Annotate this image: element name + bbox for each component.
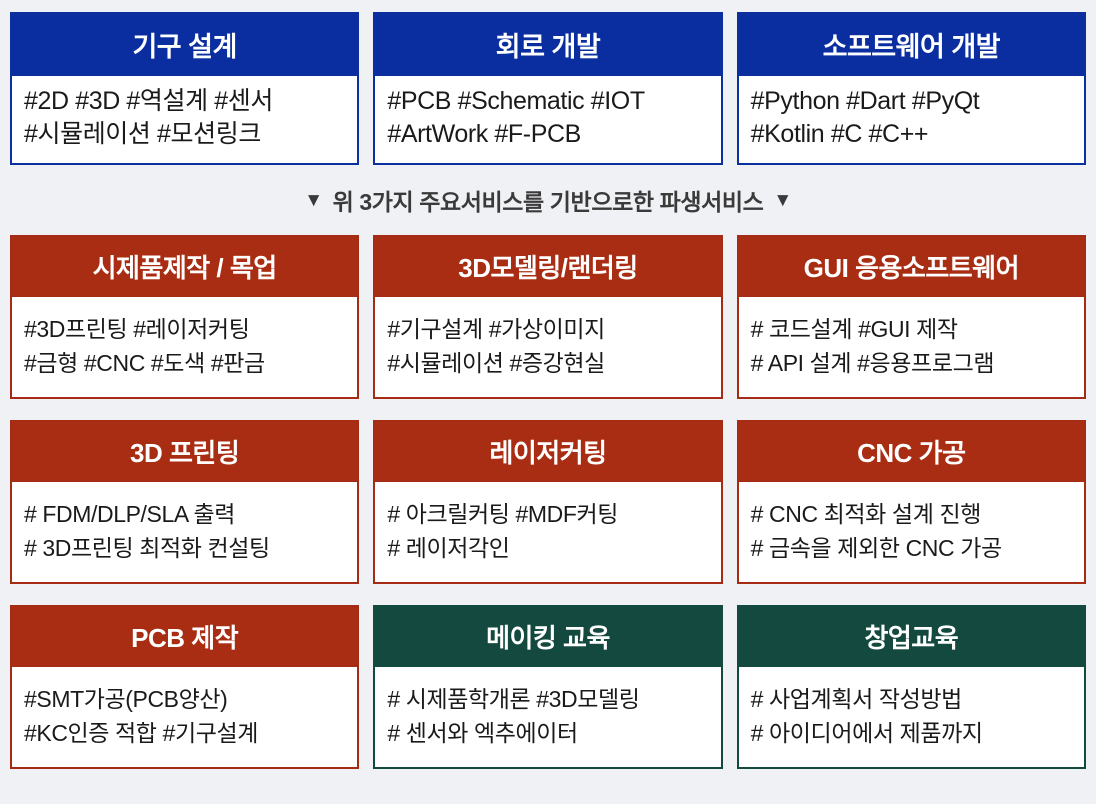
- card-tag-line: #ArtWork #F-PCB: [387, 118, 708, 151]
- service-card-circuit-development[interactable]: 회로 개발 #PCB #Schematic #IOT #ArtWork #F-P…: [373, 12, 722, 165]
- card-tag-line: # 레이저각인: [387, 531, 708, 565]
- service-card-prototype-mockup[interactable]: 시제품제작 / 목업 #3D프린팅 #레이저커팅 #금형 #CNC #도색 #판…: [10, 235, 359, 399]
- card-tag-line: # 코드설계 #GUI 제작: [751, 312, 1072, 346]
- card-tag-line: # FDM/DLP/SLA 출력: [24, 497, 345, 531]
- service-card-cnc-machining[interactable]: CNC 가공 # CNC 최적화 설계 진행 # 금속을 제외한 CNC 가공: [737, 420, 1086, 584]
- service-card-3d-printing[interactable]: 3D 프린팅 # FDM/DLP/SLA 출력 # 3D프린팅 최적화 컨설팅: [10, 420, 359, 584]
- card-header: 메이킹 교육: [375, 607, 720, 665]
- card-body: # 아크릴커팅 #MDF커팅 # 레이저각인: [375, 480, 720, 582]
- card-header: 기구 설계: [12, 14, 357, 74]
- card-header: 소프트웨어 개발: [739, 14, 1084, 74]
- service-card-mechanical-design[interactable]: 기구 설계 #2D #3D #역설계 #센서 #시뮬레이션 #모션링크: [10, 12, 359, 165]
- card-body: #SMT가공(PCB양산) #KC인증 적합 #기구설계: [12, 665, 357, 767]
- card-tag-line: # 3D프린팅 최적화 컨설팅: [24, 531, 345, 565]
- card-tag-line: # 센서와 엑추에이터: [387, 716, 708, 750]
- card-tag-line: #금형 #CNC #도색 #판금: [24, 346, 345, 380]
- service-overview-page: 기구 설계 #2D #3D #역설계 #센서 #시뮬레이션 #모션링크 회로 개…: [0, 0, 1096, 804]
- card-tag-line: # 사업계획서 작성방법: [751, 682, 1072, 716]
- card-body: #PCB #Schematic #IOT #ArtWork #F-PCB: [375, 74, 720, 163]
- card-tag-line: #PCB #Schematic #IOT: [387, 85, 708, 118]
- card-body: # 코드설계 #GUI 제작 # API 설계 #응용프로그램: [739, 295, 1084, 397]
- card-header: 레이저커팅: [375, 422, 720, 480]
- card-body: # CNC 최적화 설계 진행 # 금속을 제외한 CNC 가공: [739, 480, 1084, 582]
- card-tag-line: #SMT가공(PCB양산): [24, 682, 345, 716]
- card-body: # 사업계획서 작성방법 # 아이디어에서 제품까지: [739, 665, 1084, 767]
- card-tag-line: #2D #3D #역설계 #센서: [24, 85, 345, 118]
- card-header: 3D모델링/랜더링: [375, 237, 720, 295]
- card-body: #Python #Dart #PyQt #Kotlin #C #C++: [739, 74, 1084, 163]
- card-tag-line: # API 설계 #응용프로그램: [751, 346, 1072, 380]
- card-tag-line: #KC인증 적합 #기구설계: [24, 716, 345, 750]
- card-header: 시제품제작 / 목업: [12, 237, 357, 295]
- primary-services-row: 기구 설계 #2D #3D #역설계 #센서 #시뮬레이션 #모션링크 회로 개…: [10, 12, 1086, 165]
- card-body: #기구설계 #가상이미지 #시뮬레이션 #증강현실: [375, 295, 720, 397]
- card-body: #3D프린팅 #레이저커팅 #금형 #CNC #도색 #판금: [12, 295, 357, 397]
- derived-services-row-1: 시제품제작 / 목업 #3D프린팅 #레이저커팅 #금형 #CNC #도색 #판…: [10, 235, 1086, 399]
- service-card-3d-modeling-rendering[interactable]: 3D모델링/랜더링 #기구설계 #가상이미지 #시뮬레이션 #증강현실: [373, 235, 722, 399]
- card-tag-line: # CNC 최적화 설계 진행: [751, 497, 1072, 531]
- service-card-pcb-manufacturing[interactable]: PCB 제작 #SMT가공(PCB양산) #KC인증 적합 #기구설계: [10, 605, 359, 769]
- card-header: 회로 개발: [375, 14, 720, 74]
- service-card-gui-application-software[interactable]: GUI 응용소프트웨어 # 코드설계 #GUI 제작 # API 설계 #응용프…: [737, 235, 1086, 399]
- card-header: GUI 응용소프트웨어: [739, 237, 1084, 295]
- service-card-laser-cutting[interactable]: 레이저커팅 # 아크릴커팅 #MDF커팅 # 레이저각인: [373, 420, 722, 584]
- card-body: # FDM/DLP/SLA 출력 # 3D프린팅 최적화 컨설팅: [12, 480, 357, 582]
- derived-services-row-3: PCB 제작 #SMT가공(PCB양산) #KC인증 적합 #기구설계 메이킹 …: [10, 605, 1086, 769]
- card-tag-line: #3D프린팅 #레이저커팅: [24, 312, 345, 346]
- derived-services-note: ▼ 위 3가지 주요서비스를 기반으로한 파생서비스 ▼: [10, 165, 1086, 235]
- service-card-software-development[interactable]: 소프트웨어 개발 #Python #Dart #PyQt #Kotlin #C …: [737, 12, 1086, 165]
- card-tag-line: # 시제품학개론 #3D모델링: [387, 682, 708, 716]
- card-tag-line: #기구설계 #가상이미지: [387, 312, 708, 346]
- card-header: PCB 제작: [12, 607, 357, 665]
- service-card-making-education[interactable]: 메이킹 교육 # 시제품학개론 #3D모델링 # 센서와 엑추에이터: [373, 605, 722, 769]
- card-tag-line: #Python #Dart #PyQt: [751, 85, 1072, 118]
- derived-services-note-text: 위 3가지 주요서비스를 기반으로한 파생서비스: [333, 183, 764, 217]
- card-body: #2D #3D #역설계 #센서 #시뮬레이션 #모션링크: [12, 74, 357, 163]
- card-tag-line: # 아이디어에서 제품까지: [751, 716, 1072, 750]
- service-card-startup-education[interactable]: 창업교육 # 사업계획서 작성방법 # 아이디어에서 제품까지: [737, 605, 1086, 769]
- card-tag-line: #시뮬레이션 #증강현실: [387, 346, 708, 380]
- card-header: CNC 가공: [739, 422, 1084, 480]
- card-body: # 시제품학개론 #3D모델링 # 센서와 엑추에이터: [375, 665, 720, 767]
- caret-down-icon: ▼: [773, 191, 791, 210]
- card-tag-line: # 금속을 제외한 CNC 가공: [751, 531, 1072, 565]
- card-header: 3D 프린팅: [12, 422, 357, 480]
- caret-down-icon: ▼: [304, 191, 322, 210]
- card-tag-line: #시뮬레이션 #모션링크: [24, 118, 345, 151]
- card-tag-line: #Kotlin #C #C++: [751, 118, 1072, 151]
- card-tag-line: # 아크릴커팅 #MDF커팅: [387, 497, 708, 531]
- derived-services-row-2: 3D 프린팅 # FDM/DLP/SLA 출력 # 3D프린팅 최적화 컨설팅 …: [10, 420, 1086, 584]
- card-header: 창업교육: [739, 607, 1084, 665]
